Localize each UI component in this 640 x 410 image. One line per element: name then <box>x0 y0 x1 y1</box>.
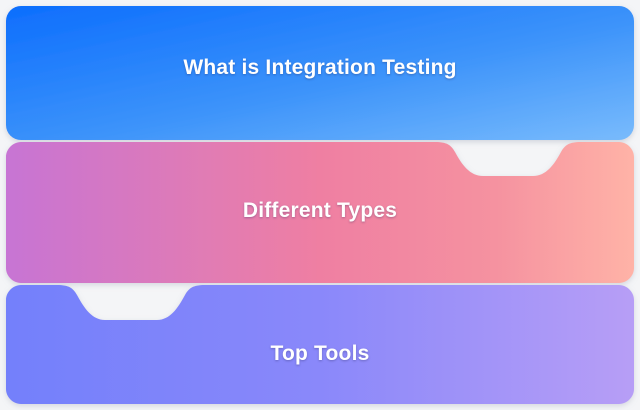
card-stack: What is Integration Testing Different Ty… <box>0 0 640 410</box>
card-3-shape <box>0 0 640 410</box>
card-top-tools[interactable]: Top Tools <box>0 0 640 410</box>
